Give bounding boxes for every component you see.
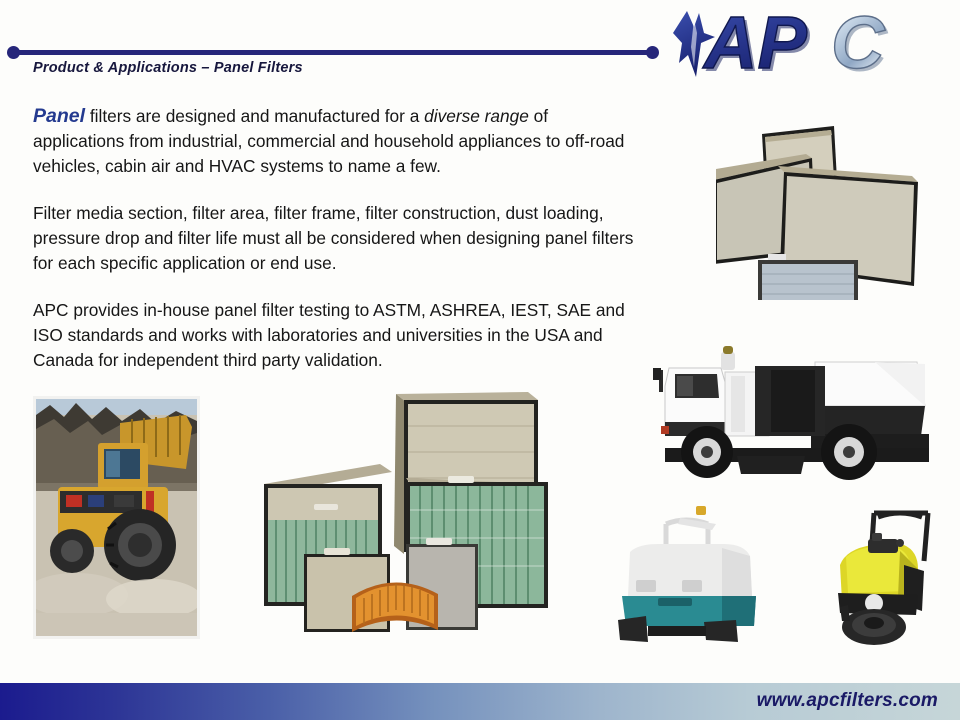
footer-bar: www.apcfilters.com <box>0 683 960 720</box>
svg-text:C: C <box>831 3 886 84</box>
apc-logo: AP AP C C <box>663 3 953 85</box>
body-copy: Panel filters are designed and manufactu… <box>33 104 643 373</box>
paragraph-2: Filter media section, filter area, filte… <box>33 201 643 276</box>
panel-filter-family-photo <box>248 386 554 644</box>
lead-word: Panel <box>33 105 85 127</box>
paragraph-3: APC provides in-house panel filter testi… <box>33 298 643 373</box>
logo-wordmark: AP AP C C <box>702 3 889 85</box>
website-url[interactable]: www.apcfilters.com <box>757 690 938 712</box>
svg-text:AP: AP <box>702 3 807 84</box>
paragraph-1-part-a: filters are designed and manufactured fo… <box>85 106 424 126</box>
slide-canvas: Product & Applications – Panel Filters <box>0 0 960 720</box>
ride-on-floor-sweeper-photo <box>604 500 772 652</box>
paragraph-1: Panel filters are designed and manufactu… <box>33 104 643 179</box>
walk-behind-sweeper-photo <box>812 495 944 655</box>
street-sweeper-truck-photo <box>625 336 945 496</box>
three-beige-panel-filters-photo <box>716 102 934 300</box>
page-title: Product & Applications – Panel Filters <box>33 60 303 76</box>
header-divider-rule <box>14 50 652 55</box>
paragraph-1-emphasis: diverse range <box>424 106 529 126</box>
mining-wheel-loader-photo <box>33 396 200 639</box>
